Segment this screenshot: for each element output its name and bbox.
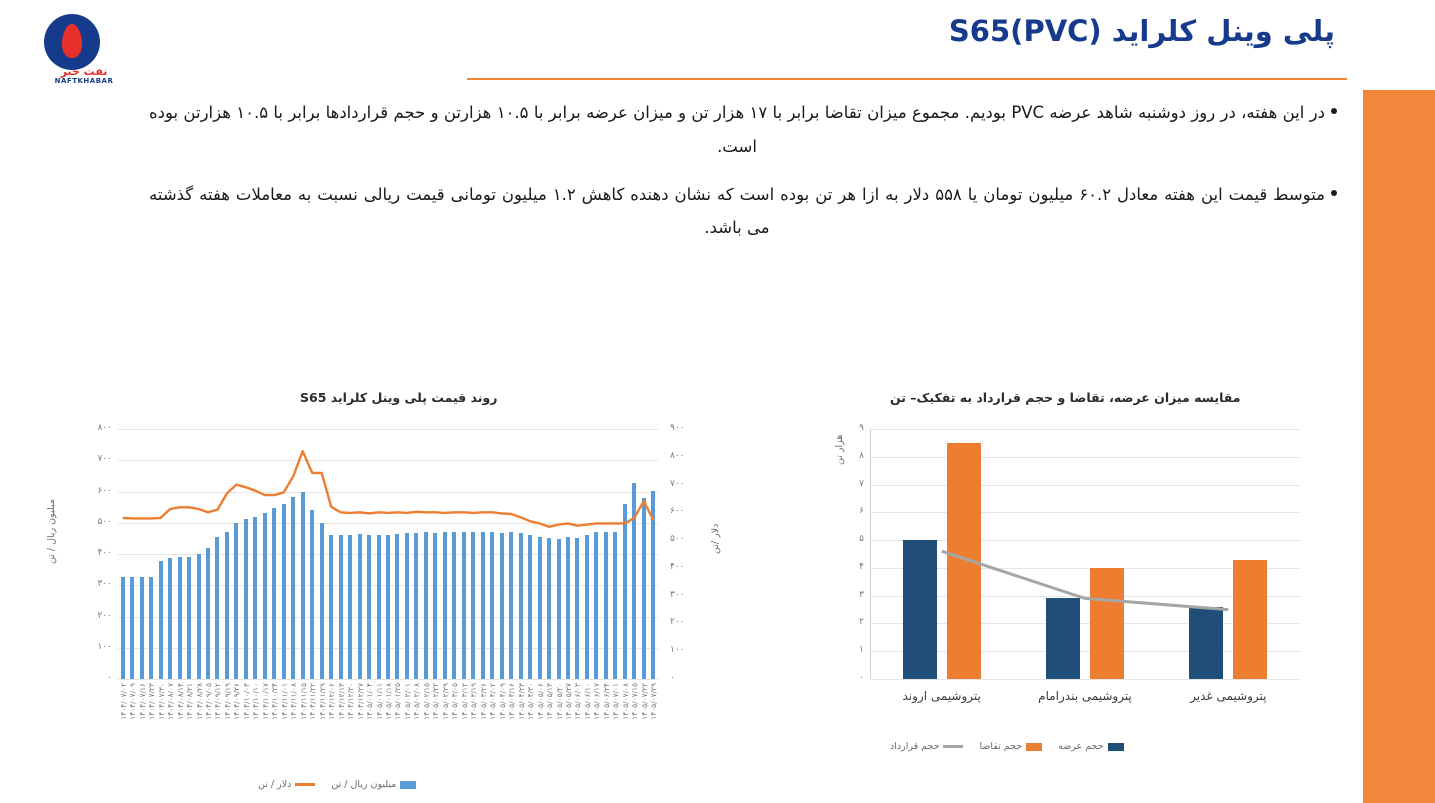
legend-line (295, 783, 315, 786)
y-axis-tick: ۵۰۰ (72, 517, 112, 527)
x-axis-category-label: پتروشیمی اروند (872, 689, 1012, 703)
bullet-dot-icon (1331, 108, 1337, 114)
logo-name: نفت خبر (61, 65, 108, 78)
volume-chart-title: مقایسه میزان عرضه، تقاضا و حجم قرارداد ب… (890, 390, 1241, 405)
y-axis-tick: ۷۰۰ (72, 454, 112, 464)
flame-icon (44, 14, 100, 70)
logo-latin: NAFTKHABAR (30, 78, 138, 86)
legend-item: دلار / تن (258, 779, 315, 790)
y-axis-tick: ۴۰۰ (72, 548, 112, 558)
legend-swatch (1026, 743, 1042, 751)
legend-item: میلیون ریال / تن (331, 779, 416, 790)
y-axis-label-right: دلار /تن (710, 524, 721, 604)
legend-label: حجم قرارداد (890, 741, 939, 752)
dollar-price-line (118, 429, 678, 699)
y-axis-tick: ۵ (838, 534, 864, 544)
right-band-notch (1363, 0, 1435, 90)
y-axis-tick: ۳ (838, 590, 864, 600)
x-axis-category-label: پتروشیمی غدیر (1158, 689, 1298, 703)
supply-demand-chart: ۰۱۲۳۴۵۶۷۸۹هزار تنپتروشیمی اروندپتروشیمی … (830, 415, 1330, 790)
legend-label: دلار / تن (258, 779, 291, 790)
y-axis-tick: ۱ (838, 645, 864, 655)
price-trend-chart: ۰۱۰۰۲۰۰۳۰۰۴۰۰۵۰۰۶۰۰۷۰۰۸۰۰۰۱۰۰۲۰۰۳۰۰۴۰۰۵۰… (40, 415, 740, 790)
title-divider (467, 78, 1347, 80)
list-item: متوسط قیمت این هفته معادل ۶۰.۲ میلیون تو… (149, 178, 1339, 246)
legend-line (943, 745, 963, 748)
bullet-text: در این هفته، در روز دوشنبه شاهد عرضه PVC… (149, 96, 1325, 164)
y-axis-label: هزار تن (834, 435, 845, 505)
legend-item: حجم قرارداد (890, 741, 963, 752)
contract-volume-line (870, 429, 1300, 689)
bullet-dot-icon (1331, 190, 1337, 196)
y-axis-tick: ۶۰۰ (72, 486, 112, 496)
y-axis-tick: ۸۰۰ (72, 423, 112, 433)
legend-item: حجم عرضه (1058, 741, 1123, 752)
logo: نفت خبر NAFTKHABAR (22, 8, 132, 86)
bullet-text: متوسط قیمت این هفته معادل ۶۰.۲ میلیون تو… (149, 178, 1325, 246)
y-axis-label-left: میلیون ریال / تن (46, 499, 57, 619)
chart-legend: حجم عرضهحجم تقاضاحجم قرارداد (880, 741, 1124, 752)
right-orange-band (1363, 0, 1435, 803)
legend-swatch (1108, 743, 1124, 751)
legend-item: حجم تقاضا (979, 741, 1042, 752)
logo-label: نفت خبر NAFTKHABAR (30, 66, 138, 86)
y-axis-tick: ۰ (838, 673, 864, 683)
chart-legend: میلیون ریال / تندلار / تن (248, 779, 416, 790)
y-axis-tick: ۴ (838, 562, 864, 572)
legend-label: حجم عرضه (1058, 741, 1103, 752)
y-axis-tick: ۲ (838, 617, 864, 627)
y-axis-tick: ۰ (72, 673, 112, 683)
list-item: در این هفته، در روز دوشنبه شاهد عرضه PVC… (149, 96, 1339, 164)
y-axis-tick: ۹ (838, 423, 864, 433)
bullet-list: در این هفته، در روز دوشنبه شاهد عرضه PVC… (149, 96, 1339, 259)
legend-label: حجم تقاضا (979, 741, 1022, 752)
legend-label: میلیون ریال / تن (331, 779, 396, 790)
legend-swatch (400, 781, 416, 789)
page-title: پلی وینل کلراید (PVC)S65 (949, 14, 1335, 48)
y-axis-tick: ۱۰۰ (72, 642, 112, 652)
x-axis-category-label: پتروشیمی بندرامام (1015, 689, 1155, 703)
y-axis-tick: ۲۰۰ (72, 611, 112, 621)
y-axis-tick: ۶ (838, 506, 864, 516)
y-axis-tick: ۳۰۰ (72, 579, 112, 589)
price-chart-title: روند قیمت پلی وینل کلراید S65 (300, 390, 497, 405)
